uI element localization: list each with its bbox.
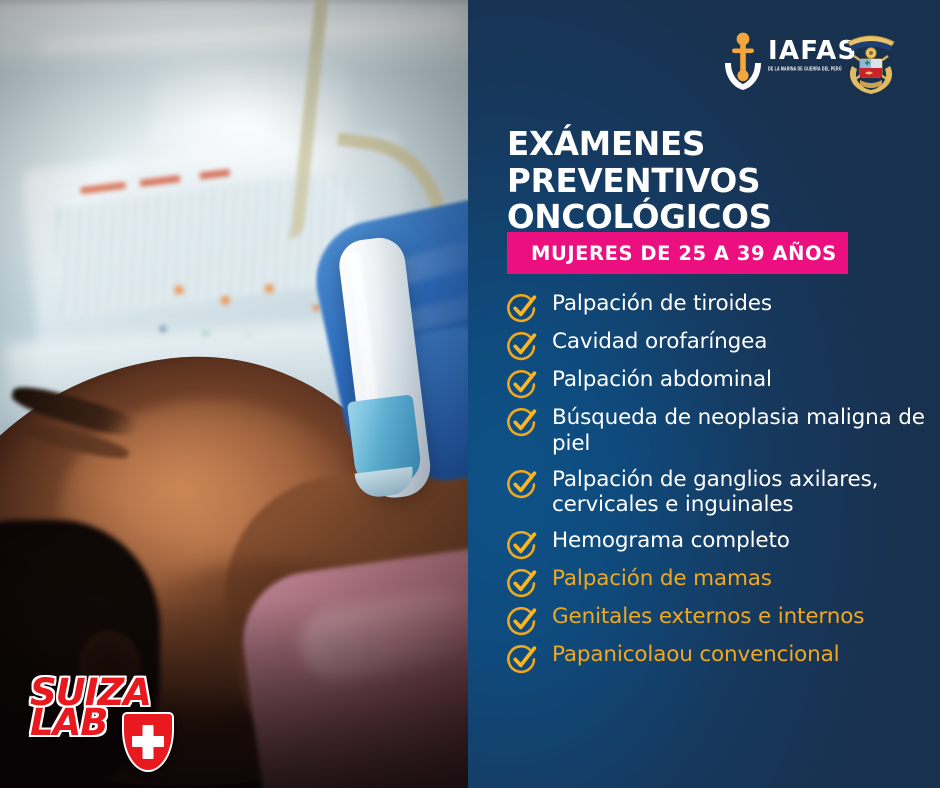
poster-canvas: SUIZA LAB IAFAS DE LA MARINA DE GUERRA D…	[0, 0, 940, 788]
check-circle-icon	[506, 368, 538, 400]
suizalab-logo: SUIZA LAB	[30, 676, 180, 764]
iafas-wordmark: IAFAS	[768, 38, 828, 64]
logo-row: IAFAS DE LA MARINA DE GUERRA DEL PERÚ	[468, 26, 940, 98]
peru-navy-coat-of-arms-icon	[838, 26, 904, 96]
iafas-logo: IAFAS DE LA MARINA DE GUERRA DEL PERÚ	[720, 30, 828, 92]
audience-badge-label: MUJERES DE 25 A 39 AÑOS	[507, 242, 837, 265]
check-circle-icon	[506, 330, 538, 362]
list-item-label: Búsqueda de neoplasia maligna de piel	[552, 404, 936, 457]
list-item: Hemograma completo	[506, 527, 936, 561]
page-title-line2: ONCOLÓGICOS	[507, 198, 772, 236]
list-item: Papanicolaou convencional	[506, 641, 936, 675]
check-circle-icon	[506, 292, 538, 324]
list-item-label: Cavidad orofaríngea	[552, 328, 767, 355]
page-title: EXÁMENES PREVENTIVOS ONCOLÓGICOS	[507, 126, 927, 236]
list-item-label: Genitales externos e internos	[552, 603, 864, 630]
list-item: Palpación de mamas	[506, 565, 936, 599]
list-item-label: Papanicolaou convencional	[552, 641, 840, 668]
check-circle-icon	[506, 567, 538, 599]
list-item-label: Hemograma completo	[552, 527, 790, 554]
check-circle-icon	[506, 643, 538, 675]
swiss-cross-shield-icon	[122, 712, 174, 772]
check-circle-icon	[506, 529, 538, 561]
content-panel: IAFAS DE LA MARINA DE GUERRA DEL PERÚ	[468, 0, 940, 788]
list-item-label: Palpación abdominal	[552, 366, 772, 393]
list-item: Palpación de tiroides	[506, 290, 936, 324]
list-item: Palpación abdominal	[506, 366, 936, 400]
list-item: Cavidad orofaríngea	[506, 328, 936, 362]
page-title-line1: EXÁMENES PREVENTIVOS	[507, 125, 760, 200]
list-item: Palpación de ganglios axilares, cervical…	[506, 466, 936, 519]
list-item-label: Palpación de ganglios axilares, cervical…	[552, 466, 936, 519]
audience-badge: MUJERES DE 25 A 39 AÑOS	[507, 232, 848, 274]
list-item: Búsqueda de neoplasia maligna de piel	[506, 404, 936, 457]
list-item: Genitales externos e internos	[506, 603, 936, 637]
anchor-icon	[720, 30, 766, 92]
check-circle-icon	[506, 605, 538, 637]
iafas-subtitle: DE LA MARINA DE GUERRA DEL PERÚ	[768, 66, 834, 72]
check-circle-icon	[506, 468, 538, 500]
hero-photo	[0, 0, 468, 788]
exam-list: Palpación de tiroides Cavidad orofarínge…	[506, 290, 936, 679]
cross-horizontal-bar	[132, 736, 164, 747]
list-item-label: Palpación de mamas	[552, 565, 772, 592]
check-circle-icon	[506, 406, 538, 438]
list-item-label: Palpación de tiroides	[552, 290, 772, 317]
